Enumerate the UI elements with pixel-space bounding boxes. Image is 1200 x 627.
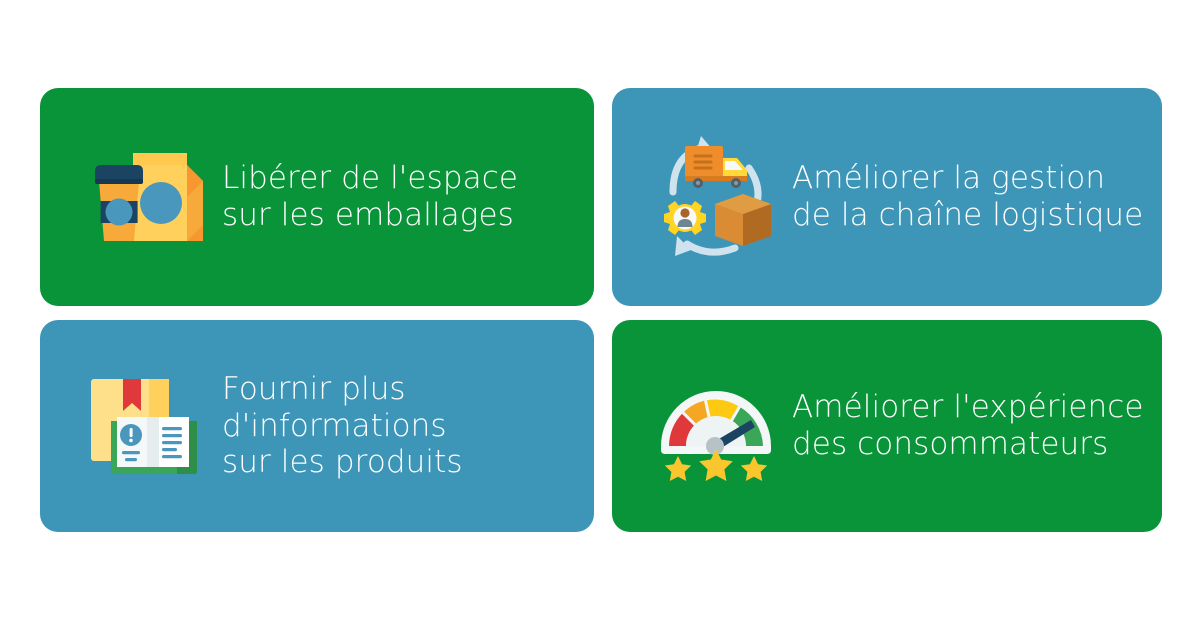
benefit-card-free-up-space[interactable]: Libérer de l'espace sur les emballages bbox=[40, 88, 594, 306]
benefit-card-label: Libérer de l'espace sur les emballages bbox=[222, 160, 518, 233]
benefit-card-consumer-experience[interactable]: Améliorer l'expérience des consommateurs bbox=[612, 320, 1162, 532]
benefit-card-supply-chain[interactable]: Améliorer la gestion de la chaîne logist… bbox=[612, 88, 1162, 306]
product-manual-box-icon bbox=[70, 373, 220, 479]
benefit-card-label: Fournir plus d'informations sur les prod… bbox=[222, 371, 463, 481]
coffee-cup-and-package-icon bbox=[70, 145, 220, 249]
benefit-card-label: Améliorer l'expérience des consommateurs bbox=[792, 389, 1144, 462]
benefit-card-label: Améliorer la gestion de la chaîne logist… bbox=[792, 160, 1143, 233]
benefit-card-grid: Libérer de l'espace sur les emballages bbox=[0, 0, 1200, 627]
satisfaction-gauge-stars-icon bbox=[646, 370, 786, 482]
supply-chain-cycle-icon bbox=[646, 132, 786, 262]
benefit-card-product-information[interactable]: Fournir plus d'informations sur les prod… bbox=[40, 320, 594, 532]
